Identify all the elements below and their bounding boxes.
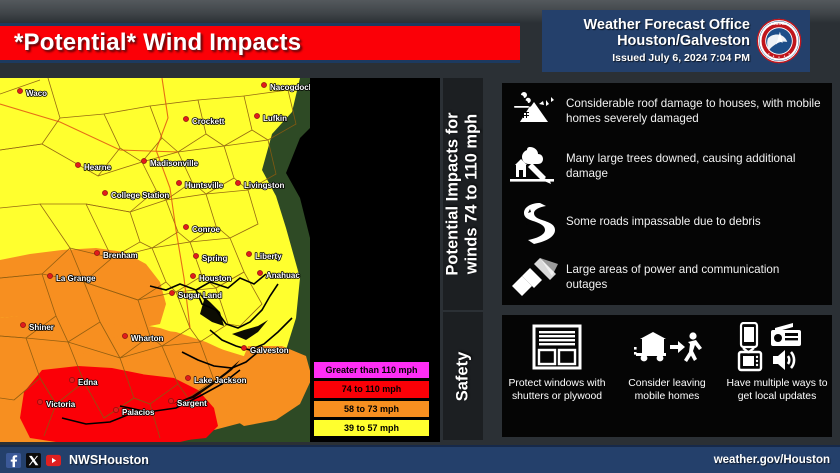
safety-item-get-updates: Have multiple ways to get local updates	[722, 315, 832, 437]
svg-text:Brenham: Brenham	[103, 251, 138, 260]
wind-roof-damage-icon	[506, 88, 560, 134]
svg-text:Sugar Land: Sugar Land	[178, 291, 222, 300]
svg-text:Shiner: Shiner	[29, 323, 54, 332]
svg-text:Waco: Waco	[26, 89, 47, 98]
wind-impact-map[interactable]: Waco Nacogdoches Crockett Lufkin Hearne …	[0, 78, 440, 442]
svg-text:Sargent: Sargent	[177, 399, 207, 408]
office-location: Houston/Galveston	[542, 33, 750, 49]
svg-text:Houston: Houston	[199, 274, 232, 283]
impact-text: Large areas of power and communication o…	[560, 262, 822, 292]
legend-label: 74 to 110 mph	[342, 384, 402, 394]
impacts-side-label-container: Potential Impacts for winds 74 to 110 mp…	[443, 78, 483, 310]
svg-text:Palacios: Palacios	[122, 408, 155, 417]
safety-icon-slot	[531, 321, 583, 373]
legend-label: 58 to 73 mph	[344, 404, 399, 414]
legend-label: 39 to 57 mph	[344, 423, 399, 433]
shuttered-window-icon	[531, 323, 583, 371]
forecast-office-text: Weather Forecast Office Houston/Galvesto…	[542, 17, 756, 66]
youtube-icon[interactable]	[46, 453, 61, 468]
title-underfill	[0, 63, 520, 78]
svg-text:Anahuac: Anahuac	[266, 271, 300, 280]
svg-text:Huntsville: Huntsville	[185, 181, 224, 190]
svg-text:Wharton: Wharton	[131, 334, 164, 343]
facebook-icon[interactable]	[6, 453, 21, 468]
x-twitter-icon[interactable]	[26, 453, 41, 468]
legend-label: Greater than 110 mph	[325, 365, 417, 375]
svg-text:Lufkin: Lufkin	[263, 114, 287, 123]
safety-item-leave-mobile-home: Consider leaving mobile homes	[612, 315, 722, 437]
svg-text:Spring: Spring	[202, 254, 227, 263]
impacts-side-label-line1: Potential Impacts for	[444, 112, 463, 275]
impact-item-power-outages: Large areas of power and communication o…	[502, 250, 832, 306]
office-label: Weather Forecast Office	[542, 17, 750, 33]
safety-item-protect-windows: Protect windows with shutters or plywood	[502, 315, 612, 437]
legend-row-gt110: Greater than 110 mph	[313, 361, 430, 379]
svg-text:Liberty: Liberty	[255, 252, 282, 261]
svg-text:Crockett: Crockett	[192, 117, 225, 126]
svg-text:Conroe: Conroe	[192, 225, 221, 234]
safety-icon-slot	[731, 321, 823, 373]
winding-road-icon	[506, 199, 560, 245]
title-bar: *Potential* Wind Impacts	[0, 23, 520, 63]
svg-text:Madisonville: Madisonville	[150, 159, 199, 168]
safety-side-label: Safety	[454, 351, 473, 401]
svg-text:Lake Jackson: Lake Jackson	[194, 376, 247, 385]
safety-label: Protect windows with shutters or plywood	[502, 377, 612, 403]
downed-tree-icon	[506, 143, 560, 189]
impact-text: Considerable roof damage to houses, with…	[560, 96, 822, 126]
svg-text:Livingston: Livingston	[244, 181, 285, 190]
impacts-side-label-line2: winds 74 to 110 mph	[463, 112, 482, 275]
legend-row-39-57: 39 to 57 mph	[313, 419, 430, 437]
graphic-root: *Potential* Wind Impacts Weather Forecas…	[0, 0, 840, 473]
impact-item-roads-impassable: Some roads impassable due to debris	[502, 194, 832, 250]
svg-text:WEATHER: WEATHER	[771, 22, 788, 26]
forecast-office-header: Weather Forecast Office Houston/Galvesto…	[542, 10, 810, 72]
impacts-side-label: Potential Impacts for winds 74 to 110 mp…	[444, 112, 482, 275]
legend-row-74-110: 74 to 110 mph	[313, 380, 430, 398]
site-url[interactable]: weather.gov/Houston	[714, 454, 840, 466]
safety-icon-slot	[630, 321, 704, 373]
svg-text:Hearne: Hearne	[84, 163, 112, 172]
impacts-panel: Considerable roof damage to houses, with…	[502, 83, 832, 305]
svg-text:La Grange: La Grange	[56, 274, 96, 283]
safety-label: Have multiple ways to get local updates	[722, 377, 832, 403]
footer-bar: NWSHouston weather.gov/Houston	[0, 445, 840, 473]
wind-speed-legend: Greater than 110 mph 74 to 110 mph 58 to…	[310, 358, 433, 440]
impact-item-downed-trees: Many large trees downed, causing additio…	[502, 139, 832, 195]
multiple-alert-devices-icon	[731, 322, 823, 372]
issued-timestamp: Issued July 6, 2024 7:04 PM	[542, 51, 750, 66]
safety-side-label-container: Safety	[443, 312, 483, 440]
page-title: *Potential* Wind Impacts	[0, 29, 301, 57]
nws-logo: WEATHER	[756, 18, 802, 64]
social-handle: NWSHouston	[69, 453, 149, 467]
social-links[interactable]: NWSHouston	[0, 453, 149, 468]
safety-label: Consider leaving mobile homes	[612, 377, 722, 403]
svg-text:Edna: Edna	[78, 378, 98, 387]
legend-row-58-73: 58 to 73 mph	[313, 400, 430, 418]
flashlight-icon	[506, 254, 560, 300]
impact-item-roof-damage: Considerable roof damage to houses, with…	[502, 83, 832, 139]
svg-text:Victoria: Victoria	[46, 400, 76, 409]
safety-panel: Protect windows with shutters or plywood	[502, 315, 832, 437]
impact-text: Many large trees downed, causing additio…	[560, 151, 822, 181]
impact-text: Some roads impassable due to debris	[560, 214, 761, 229]
leave-mobile-home-icon	[630, 325, 704, 369]
svg-text:Galveston: Galveston	[250, 346, 289, 355]
svg-text:College Station: College Station	[111, 191, 169, 200]
